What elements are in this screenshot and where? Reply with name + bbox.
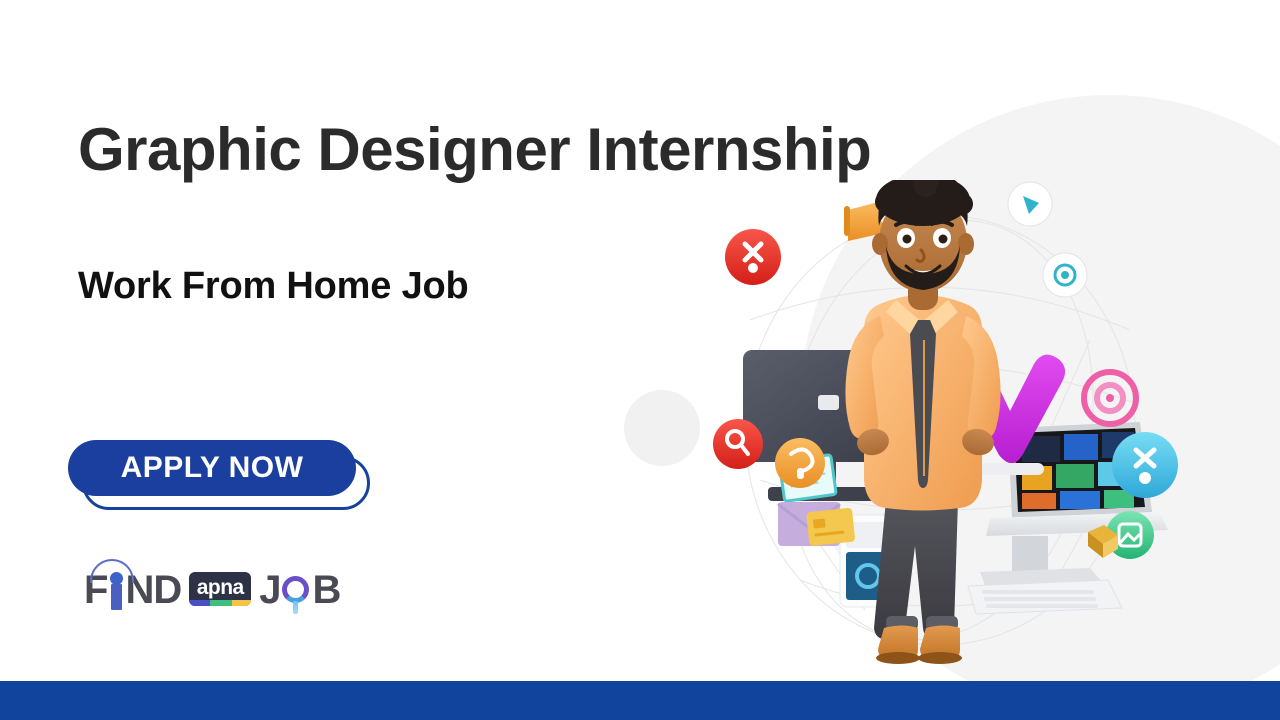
bottom-accent-bar: [0, 681, 1280, 720]
animate-icon: [1112, 432, 1178, 498]
apna-badge: apna: [189, 572, 251, 606]
logo-letter-j: J: [259, 570, 280, 610]
apply-now-button[interactable]: APPLY NOW: [68, 440, 356, 496]
person-body-icon: [111, 584, 122, 610]
eye-icon: [1043, 253, 1087, 297]
logo-find-word: F ND: [84, 570, 181, 610]
stripe-yellow: [232, 600, 251, 606]
logo-job-word: J B: [259, 570, 340, 610]
job-poster: Graphic Designer Internship Work From Ho…: [0, 0, 1280, 720]
apna-badge-label: apna: [197, 577, 244, 598]
apply-now-cta[interactable]: APPLY NOW: [68, 440, 388, 520]
magnifier-icon: [280, 570, 312, 610]
play-icon: [1008, 182, 1052, 226]
brush-icon: [775, 438, 825, 488]
magnifier-ring-icon: [282, 576, 309, 603]
poster-text-column: Graphic Designer Internship Work From Ho…: [78, 118, 718, 308]
stripe-green: [210, 600, 233, 606]
logo-letter-b: B: [312, 570, 340, 610]
stripe-blue: [189, 600, 210, 606]
search-icon: [713, 419, 763, 469]
subtitle: Work From Home Job: [78, 265, 718, 308]
hero-illustration: [690, 180, 1210, 685]
background-circle-small: [624, 390, 700, 466]
apna-badge-stripe: [189, 600, 251, 606]
brand-logo[interactable]: F ND apna J B: [84, 552, 340, 610]
logo-letters-nd: ND: [125, 570, 181, 610]
magnifier-handle-icon: [293, 601, 298, 614]
page-title: Graphic Designer Internship: [78, 118, 718, 181]
pen-tool-icon: [725, 229, 781, 285]
target-icon: [1084, 372, 1136, 424]
card-icon: [806, 508, 855, 547]
person-icon: [107, 570, 125, 610]
